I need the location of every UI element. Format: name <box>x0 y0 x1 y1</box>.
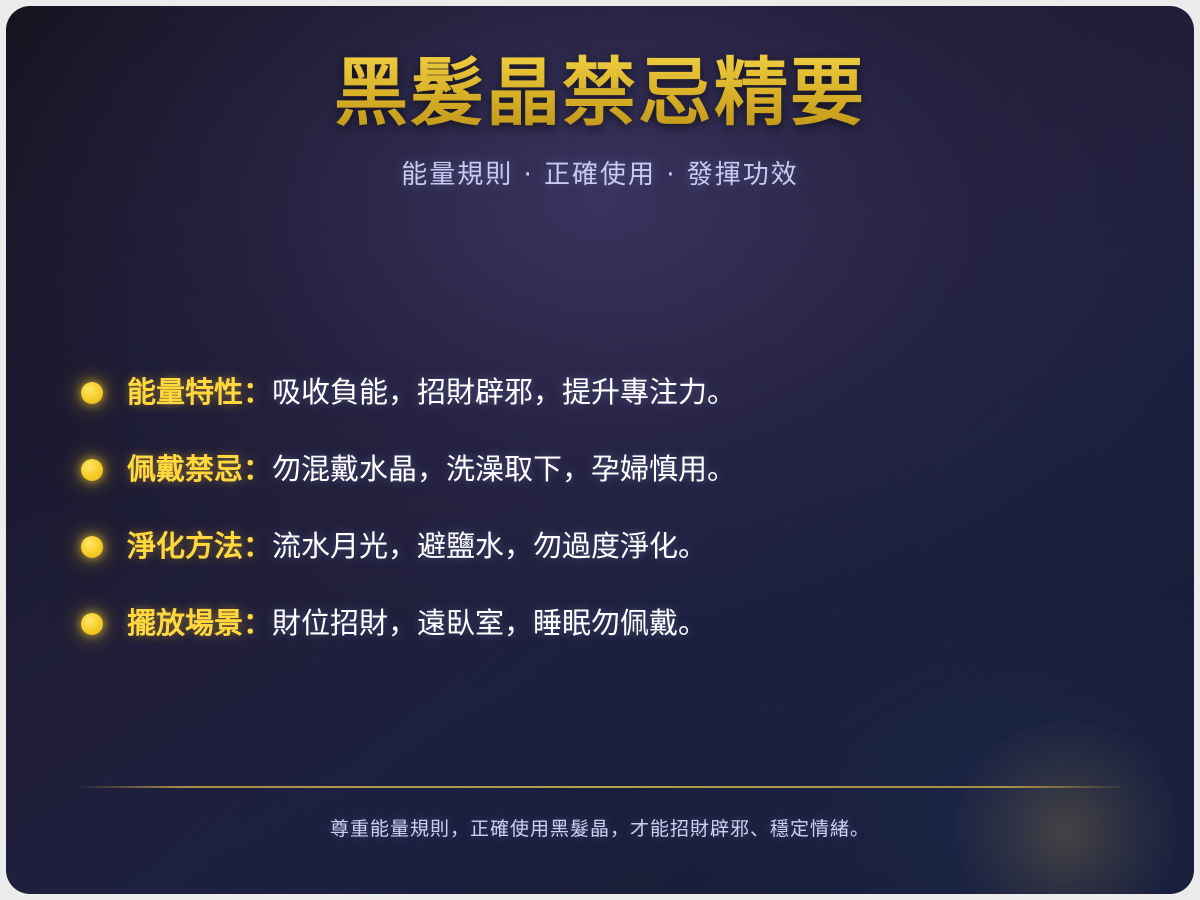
list-item-label: 佩戴禁忌 <box>127 452 243 486</box>
footer-note: 尊重能量規則，正確使用黑髮晶，才能招財辟邪、穩定情緒。 <box>6 814 1194 841</box>
gold-glow-decoration <box>956 721 1176 894</box>
list-item-text: 勿混戴水晶，洗澡取下，孕婦慎用。 <box>272 452 736 486</box>
slide-card: 黑髮晶禁忌精要 能量規則 · 正確使用 · 發揮功效 能量特性：吸收負能，招財辟… <box>6 6 1194 894</box>
list-item-separator: ： <box>243 606 272 640</box>
bullet-dot-icon <box>81 382 103 404</box>
slide-header: 黑髮晶禁忌精要 能量規則 · 正確使用 · 發揮功效 <box>6 6 1194 191</box>
list-item-text: 吸收負能，招財辟邪，提升專注力。 <box>272 375 736 409</box>
list-item-content: 淨化方法：流水月光，避鹽水，勿過度淨化。 <box>127 528 707 564</box>
footer-divider <box>80 786 1120 788</box>
list-item-label: 擺放場景 <box>127 606 243 640</box>
list-item: 淨化方法：流水月光，避鹽水，勿過度淨化。 <box>6 508 1194 585</box>
list-item-content: 能量特性：吸收負能，招財辟邪，提升專注力。 <box>127 374 736 410</box>
bullet-dot-icon <box>81 613 103 635</box>
bullet-list: 能量特性：吸收負能，招財辟邪，提升專注力。 佩戴禁忌：勿混戴水晶，洗澡取下，孕婦… <box>6 354 1194 662</box>
slide-subtitle: 能量規則 · 正確使用 · 發揮功效 <box>6 154 1194 191</box>
list-item-label: 能量特性 <box>127 375 243 409</box>
list-item: 佩戴禁忌：勿混戴水晶，洗澡取下，孕婦慎用。 <box>6 431 1194 508</box>
list-item-content: 佩戴禁忌：勿混戴水晶，洗澡取下，孕婦慎用。 <box>127 451 736 487</box>
list-item-text: 財位招財，遠臥室，睡眠勿佩戴。 <box>272 606 707 640</box>
bullet-dot-icon <box>81 459 103 481</box>
list-item: 能量特性：吸收負能，招財辟邪，提升專注力。 <box>6 354 1194 431</box>
list-item-label: 淨化方法 <box>127 529 243 563</box>
bullet-dot-icon <box>81 536 103 558</box>
list-item-separator: ： <box>243 452 272 486</box>
list-item-content: 擺放場景：財位招財，遠臥室，睡眠勿佩戴。 <box>127 605 707 641</box>
list-item-text: 流水月光，避鹽水，勿過度淨化。 <box>272 529 707 563</box>
list-item: 擺放場景：財位招財，遠臥室，睡眠勿佩戴。 <box>6 585 1194 662</box>
list-item-separator: ： <box>243 529 272 563</box>
page-title: 黑髮晶禁忌精要 <box>6 6 1194 134</box>
list-item-separator: ： <box>243 375 272 409</box>
